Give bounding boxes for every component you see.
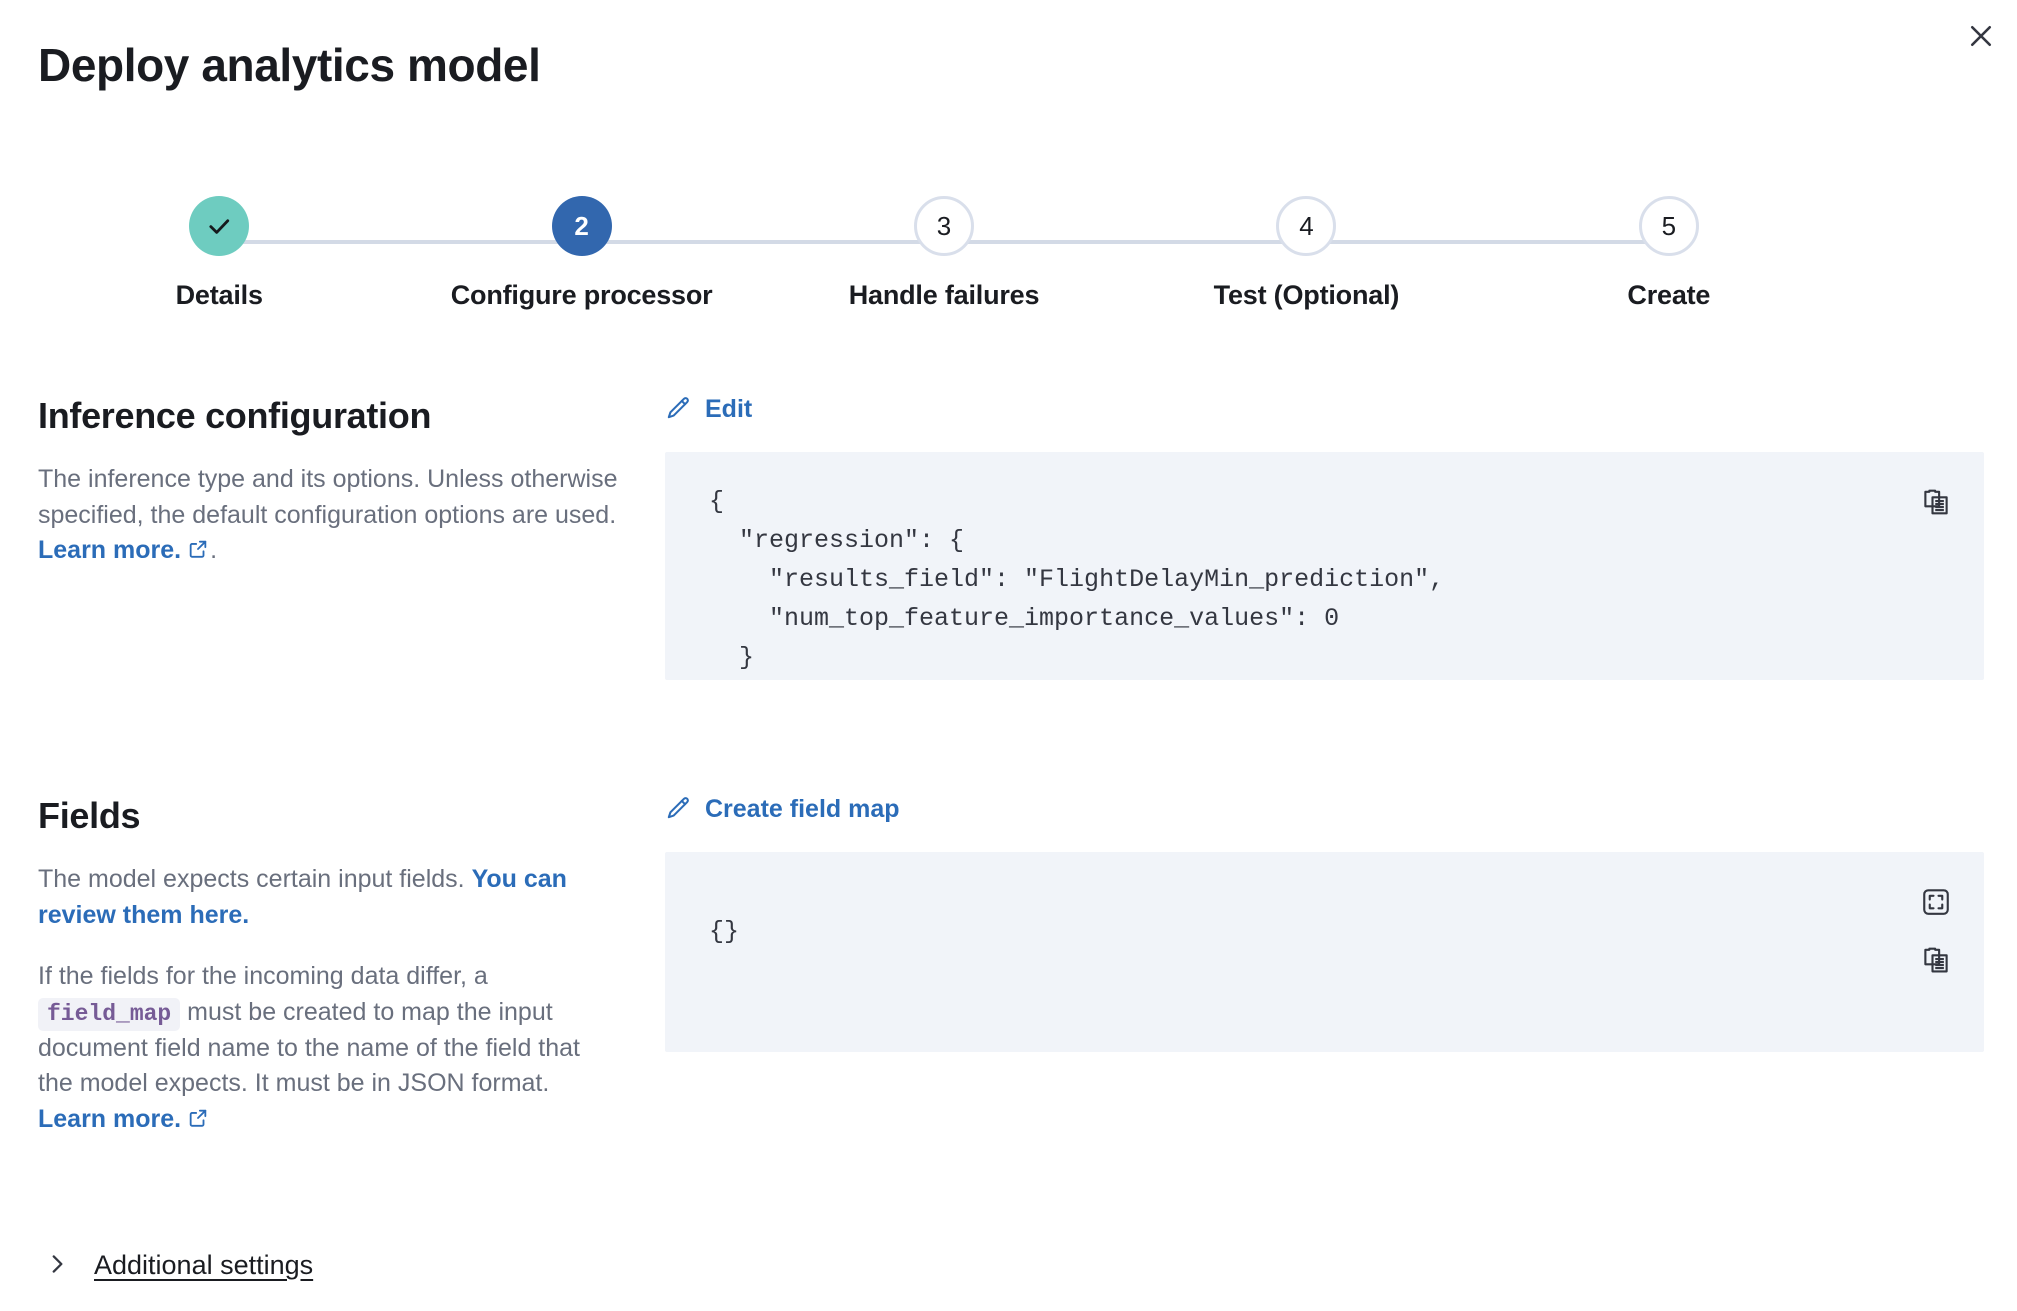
fields-description-1: The model expects certain input fields. … (38, 862, 618, 933)
field-map-code-chip: field_map (38, 998, 180, 1031)
edit-inference-config-button[interactable]: Edit (665, 395, 752, 424)
edit-inference-config-label: Edit (705, 395, 752, 424)
create-field-map-label: Create field map (705, 795, 900, 824)
additional-settings-label: Additional settings (94, 1250, 313, 1281)
field-map-code-tools (1920, 886, 1952, 976)
page-title: Deploy analytics model (38, 40, 540, 91)
pencil-icon (665, 795, 691, 824)
field-map-learn-more-link[interactable]: Learn more. (38, 1105, 181, 1133)
check-icon (205, 212, 233, 240)
step-1-circle (189, 196, 249, 256)
inference-description-text: The inference type and its options. Unle… (38, 465, 617, 529)
inference-config-code-block: { "regression": { "results_field": "Flig… (665, 452, 1984, 680)
deploy-analytics-model-modal: Deploy analytics model Details 2 Configu… (0, 0, 2017, 1311)
step-4-circle: 4 (1276, 196, 1336, 256)
fields-heading: Fields (38, 795, 618, 836)
step-1-label: Details (176, 280, 263, 311)
fields-left: Fields The model expects certain input f… (38, 795, 618, 1139)
field-map-code-block: {} (665, 852, 1984, 1052)
fields-right: Create field map {} (665, 795, 1984, 1052)
step-2-label: Configure processor (451, 280, 713, 311)
fields-description-1-text: The model expects certain input fields. (38, 865, 472, 893)
close-button[interactable] (1959, 14, 2003, 58)
step-5-circle: 5 (1639, 196, 1699, 256)
copy-icon (1921, 487, 1951, 517)
fields-description-2-text: If the fields for the incoming data diff… (38, 962, 488, 990)
fields-description-2: If the fields for the incoming data diff… (38, 959, 618, 1139)
copy-inference-config-button[interactable] (1920, 486, 1952, 518)
external-link-icon (187, 535, 209, 571)
step-2-circle: 2 (552, 196, 612, 256)
step-3-label: Handle failures (849, 280, 1040, 311)
additional-settings-toggle[interactable]: Additional settings (44, 1250, 313, 1281)
inference-configuration-heading: Inference configuration (38, 395, 618, 436)
copy-field-map-button[interactable] (1920, 944, 1952, 976)
create-field-map-button[interactable]: Create field map (665, 795, 900, 824)
step-5-label: Create (1627, 280, 1710, 311)
inference-configuration-right: Edit { "regression": { "results_field": … (665, 395, 1984, 680)
expand-field-map-button[interactable] (1920, 886, 1952, 918)
pencil-icon (665, 395, 691, 424)
step-2-configure-processor[interactable]: 2 Configure processor (400, 196, 762, 311)
inference-configuration-description: The inference type and its options. Unle… (38, 462, 618, 571)
inference-config-code-tools (1920, 486, 1952, 518)
step-3-handle-failures[interactable]: 3 Handle failures (763, 196, 1125, 311)
copy-icon (1921, 945, 1951, 975)
field-map-code: {} (665, 852, 1984, 951)
step-3-circle: 3 (914, 196, 974, 256)
close-icon (1966, 21, 1996, 51)
chevron-right-icon (44, 1251, 70, 1280)
external-link-icon (187, 1104, 209, 1140)
inference-configuration-left: Inference configuration The inference ty… (38, 395, 618, 571)
inference-learn-more-link[interactable]: Learn more. (38, 536, 181, 564)
step-5-create[interactable]: 5 Create (1488, 196, 1850, 311)
step-1-details[interactable]: Details (38, 196, 400, 311)
step-4-test-optional[interactable]: 4 Test (Optional) (1125, 196, 1487, 311)
inference-description-suffix: . (210, 536, 217, 564)
wizard-stepper: Details 2 Configure processor 3 Handle f… (38, 196, 1850, 326)
inference-config-code: { "regression": { "results_field": "Flig… (665, 452, 1984, 680)
expand-icon (1921, 887, 1951, 917)
step-4-label: Test (Optional) (1214, 280, 1400, 311)
